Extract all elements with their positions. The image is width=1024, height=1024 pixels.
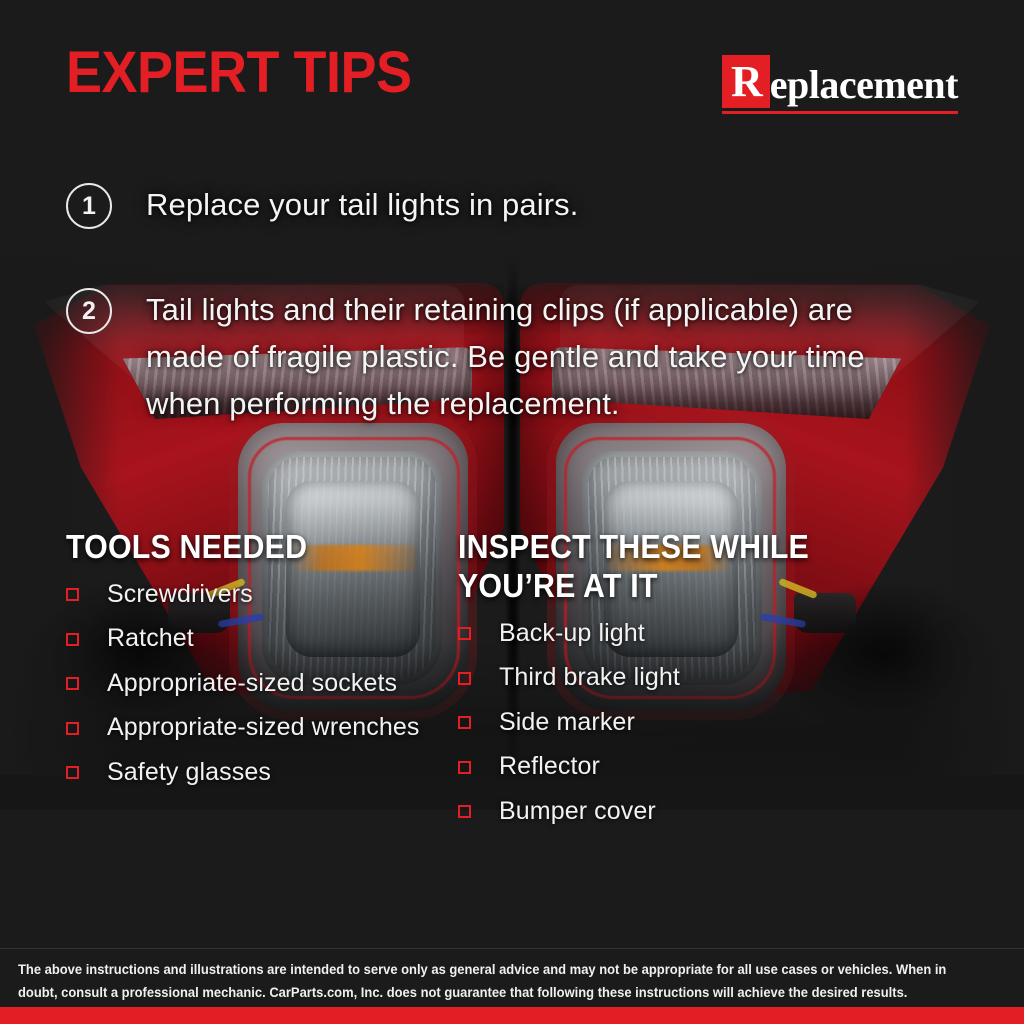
logo-badge-letter: R bbox=[722, 55, 770, 108]
square-bullet-icon bbox=[66, 722, 79, 735]
list-item-label: Ratchet bbox=[107, 625, 194, 653]
tip-text-2: Tail lights and their retaining clips (i… bbox=[146, 286, 926, 427]
footer-divider bbox=[0, 948, 1024, 949]
list-item: Back-up light bbox=[458, 620, 888, 648]
tip-text-1: Replace your tail lights in pairs. bbox=[146, 181, 578, 228]
tip-number-badge-2: 2 bbox=[66, 288, 112, 334]
inspect-list: Back-up light Third brake light Side mar… bbox=[458, 620, 888, 826]
list-item: Side marker bbox=[458, 709, 888, 737]
tools-list: Screwdrivers Ratchet Appropriate-sized s… bbox=[66, 581, 466, 787]
square-bullet-icon bbox=[66, 633, 79, 646]
list-item: Screwdrivers bbox=[66, 581, 466, 609]
tip-item-1: 1 Replace your tail lights in pairs. bbox=[66, 181, 578, 229]
list-item: Appropriate-sized wrenches bbox=[66, 714, 466, 742]
replacement-logo: R eplacement bbox=[722, 55, 958, 114]
list-item-label: Safety glasses bbox=[107, 759, 271, 787]
square-bullet-icon bbox=[458, 805, 471, 818]
list-item-label: Bumper cover bbox=[499, 798, 656, 826]
list-item-label: Side marker bbox=[499, 709, 635, 737]
expert-tips-graphic: EXPERT TIPS R eplacement 1 Replace your … bbox=[0, 0, 1024, 1024]
square-bullet-icon bbox=[458, 672, 471, 685]
square-bullet-icon bbox=[458, 761, 471, 774]
tip-item-2: 2 Tail lights and their retaining clips … bbox=[66, 286, 926, 427]
page-title: EXPERT TIPS bbox=[66, 44, 412, 102]
tip-number-badge-1: 1 bbox=[66, 183, 112, 229]
logo-underline bbox=[722, 111, 958, 114]
list-item-label: Screwdrivers bbox=[107, 581, 253, 609]
list-item-label: Appropriate-sized sockets bbox=[107, 670, 397, 698]
section-inspect-these: INSPECT THESE WHILE YOU’RE AT IT Back-up… bbox=[458, 528, 888, 842]
square-bullet-icon bbox=[458, 627, 471, 640]
list-item-label: Reflector bbox=[499, 753, 600, 781]
square-bullet-icon bbox=[458, 716, 471, 729]
list-item: Appropriate-sized sockets bbox=[66, 670, 466, 698]
square-bullet-icon bbox=[66, 677, 79, 690]
section-tools-needed: TOOLS NEEDED Screwdrivers Ratchet Approp… bbox=[66, 528, 466, 803]
square-bullet-icon bbox=[66, 588, 79, 601]
section-heading-inspect: INSPECT THESE WHILE YOU’RE AT IT bbox=[458, 528, 854, 606]
list-item: Third brake light bbox=[458, 664, 888, 692]
list-item: Reflector bbox=[458, 753, 888, 781]
list-item: Ratchet bbox=[66, 625, 466, 653]
logo-wordmark: eplacement bbox=[770, 65, 958, 108]
section-heading-tools: TOOLS NEEDED bbox=[66, 528, 434, 567]
bottom-accent-bar bbox=[0, 1007, 1024, 1024]
square-bullet-icon bbox=[66, 766, 79, 779]
list-item-label: Appropriate-sized wrenches bbox=[107, 714, 419, 742]
list-item: Safety glasses bbox=[66, 759, 466, 787]
list-item-label: Back-up light bbox=[499, 620, 645, 648]
list-item: Bumper cover bbox=[458, 798, 888, 826]
footer-disclaimer: The above instructions and illustrations… bbox=[18, 958, 970, 1004]
list-item-label: Third brake light bbox=[499, 664, 680, 692]
